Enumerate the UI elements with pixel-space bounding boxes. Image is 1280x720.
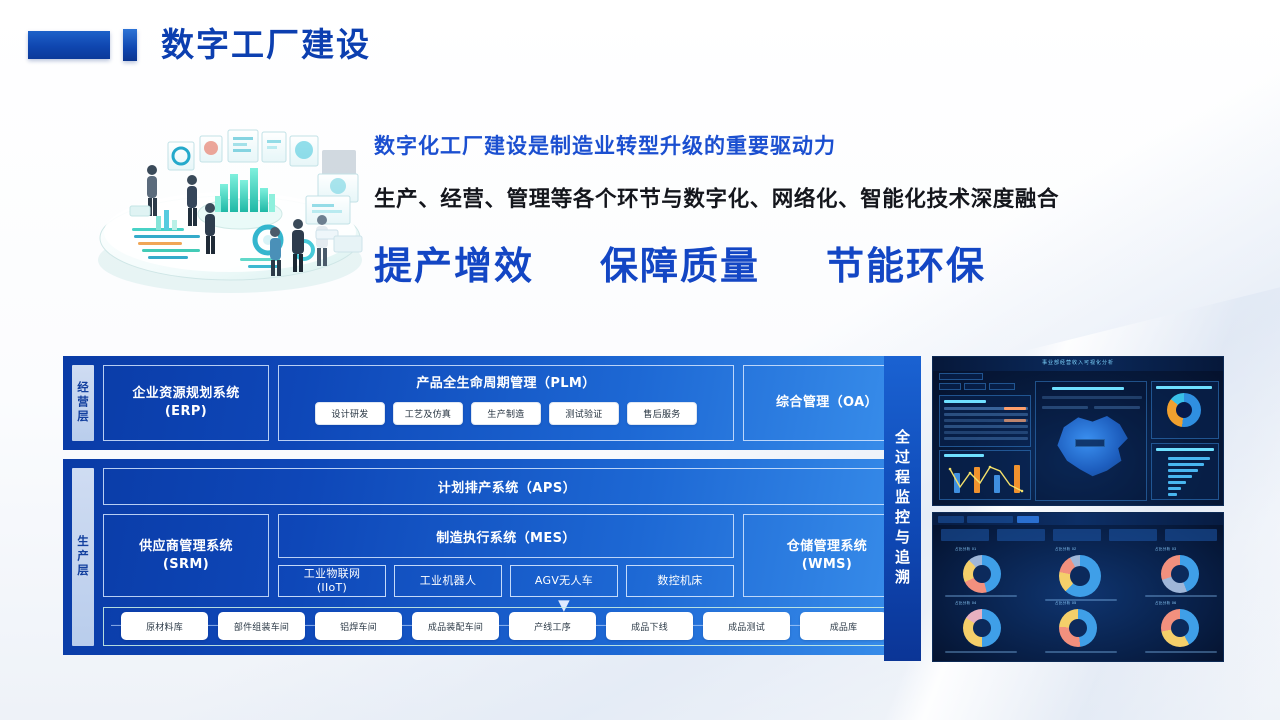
flow-connector-1: — xyxy=(208,621,218,631)
card-srm[interactable]: 供应商管理系统 (SRM) xyxy=(103,514,269,597)
hero-keyword-1: 提产增效 xyxy=(374,235,534,290)
production-flow: — 原材料库 — 部件组装车间 — 铝焊车间 — 成品装配车间 — 产线工序 —… xyxy=(103,607,911,646)
hero-keyword-3: 节能环保 xyxy=(826,235,986,290)
dashboard2-donut-1 xyxy=(963,555,1001,593)
flow-connector-4: — xyxy=(499,621,509,631)
card-erp[interactable]: 企业资源规划系统 (ERP) xyxy=(103,365,269,441)
flow-connector-6: — xyxy=(693,621,703,631)
card-srm-subtitle: (SRM) xyxy=(163,556,209,574)
hero-headline: 数字化工厂建设是制造业转型升级的重要驱动力 xyxy=(374,130,1214,160)
layer-tab-production: 生产层 xyxy=(72,468,94,646)
flow-connector-7: — xyxy=(790,621,800,631)
flow-connector-2: — xyxy=(305,621,315,631)
plm-chip-design[interactable]: 设计研发 xyxy=(315,402,385,425)
card-srm-title: 供应商管理系统 xyxy=(139,538,233,556)
layer-tab-production-label: 生产层 xyxy=(75,535,91,579)
card-mes-title[interactable]: 制造执行系统（MES） xyxy=(278,514,734,558)
flow-node-welding[interactable]: 铝焊车间 xyxy=(315,612,402,640)
card-wms-subtitle: (WMS) xyxy=(802,556,853,574)
mes-chip-iiot[interactable]: 工业物联网(IIoT) xyxy=(278,565,386,597)
production-card-row: 供应商管理系统 (SRM) 制造执行系统（MES） 工业物联网(IIoT) 工业… xyxy=(103,514,911,597)
plm-chip-manufacturing[interactable]: 生产制造 xyxy=(471,402,541,425)
layer-operations: 经营层 企业资源规划系统 (ERP) 产品全生命周期管理（PLM） 设计研发 工… xyxy=(63,356,921,450)
dashboard1-filter-chip-4 xyxy=(989,383,1015,390)
plm-chip-aftersales[interactable]: 售后服务 xyxy=(627,402,697,425)
plm-chip-process-sim[interactable]: 工艺及仿真 xyxy=(393,402,463,425)
page-title: 数字工厂建设 xyxy=(161,28,371,61)
dashboard2-kpi-5 xyxy=(1165,529,1217,541)
layer-production: 生产层 计划排产系统（APS） 供应商管理系统 (SRM) 制造执行系统（MES… xyxy=(63,459,921,655)
page-header: 数字工厂建设 xyxy=(28,28,371,61)
card-plm[interactable]: 产品全生命周期管理（PLM） 设计研发 工艺及仿真 生产制造 测试验证 售后服务 xyxy=(278,365,734,441)
dashboard2-donut-3 xyxy=(1161,555,1199,593)
plm-chip-testing[interactable]: 测试验证 xyxy=(549,402,619,425)
mes-chip-robot[interactable]: 工业机器人 xyxy=(394,565,502,597)
dashboard2-kpi-4 xyxy=(1109,529,1157,541)
dashboard2-date-chip xyxy=(938,516,964,523)
layer-production-body: 计划排产系统（APS） 供应商管理系统 (SRM) 制造执行系统（MES） 工业… xyxy=(103,468,911,646)
dashboard1-horizontal-bars xyxy=(1151,443,1219,500)
hero-keyword-row: 提产增效 保障质量 节能环保 xyxy=(374,235,1214,290)
flow-node-part-assembly[interactable]: 部件组装车间 xyxy=(218,612,305,640)
hero-keyword-2: 保障质量 xyxy=(600,235,760,290)
operations-card-row: 企业资源规划系统 (ERP) 产品全生命周期管理（PLM） 设计研发 工艺及仿真… xyxy=(103,365,911,441)
dashboard2-donut-2 xyxy=(1059,555,1101,597)
header-decor-bar-small xyxy=(123,29,137,61)
dashboard2-kpi-3 xyxy=(1053,529,1101,541)
factory-illustration xyxy=(72,110,388,300)
dashboard1-data-table xyxy=(939,395,1031,447)
card-oa-title: 综合管理（OA） xyxy=(776,394,878,412)
layer-tab-operations-label: 经营层 xyxy=(75,381,91,425)
production-flow-nodes: — 原材料库 — 部件组装车间 — 铝焊车间 — 成品装配车间 — 产线工序 —… xyxy=(111,612,903,640)
dashboard2-donut-5 xyxy=(1059,609,1097,647)
header-decor-bar-large xyxy=(28,31,110,59)
dashboard2-query-button[interactable] xyxy=(1017,516,1039,523)
flow-node-offline[interactable]: 成品下线 xyxy=(606,612,693,640)
dashboard1-line-bar-chart xyxy=(939,450,1031,500)
hero-text-block: 数字化工厂建设是制造业转型升级的重要驱动力 生产、经营、管理等各个环节与数字化、… xyxy=(374,130,1214,290)
dashboard1-filter-chip-1 xyxy=(939,373,983,380)
dashboard2-kpi-1 xyxy=(941,529,989,541)
dashboard1-donut-chart xyxy=(1167,393,1201,427)
card-aps[interactable]: 计划排产系统（APS） xyxy=(103,468,911,505)
mes-chip-agv[interactable]: AGV无人车 ▼ xyxy=(510,565,618,597)
card-erp-subtitle: (ERP) xyxy=(165,403,207,421)
dashboard1-title: 事业部经营收入可视化分析 xyxy=(933,359,1223,366)
mes-chip-cnc[interactable]: 数控机床 xyxy=(626,565,734,597)
flow-node-final-assembly[interactable]: 成品装配车间 xyxy=(412,612,499,640)
card-plm-title: 产品全生命周期管理（PLM） xyxy=(416,375,595,393)
card-erp-title: 企业资源规划系统 xyxy=(132,385,239,403)
hero-section: 数字化工厂建设是制造业转型升级的重要驱动力 生产、经营、管理等各个环节与数字化、… xyxy=(0,100,1280,330)
monitor-bar: 全过程监控与追溯 xyxy=(884,356,921,661)
flow-connector-3: — xyxy=(402,621,412,631)
dashboard2-filter-chip xyxy=(967,516,1013,523)
monitor-bar-label: 全过程监控与追溯 xyxy=(892,429,913,589)
flow-connector-5: — xyxy=(596,621,606,631)
architecture-diagram: 经营层 企业资源规划系统 (ERP) 产品全生命周期管理（PLM） 设计研发 工… xyxy=(63,356,921,661)
flow-connector-0: — xyxy=(111,621,121,631)
hero-subheadline: 生产、经营、管理等各个环节与数字化、网络化、智能化技术深度融合 xyxy=(374,182,1214,213)
dashboard2-donut-6 xyxy=(1161,609,1199,647)
card-wms-title: 仓储管理系统 xyxy=(787,538,867,556)
dashboard1-filter-chip-3 xyxy=(964,383,986,390)
layer-operations-body: 企业资源规划系统 (ERP) 产品全生命周期管理（PLM） 设计研发 工艺及仿真… xyxy=(103,365,911,441)
card-mes: 制造执行系统（MES） 工业物联网(IIoT) 工业机器人 AGV无人车 ▼ 数… xyxy=(278,514,734,597)
dashboard1-map-tooltip xyxy=(1075,439,1105,447)
flow-node-finished-warehouse[interactable]: 成品库 xyxy=(800,612,887,640)
mes-chip-row: 工业物联网(IIoT) 工业机器人 AGV无人车 ▼ 数控机床 xyxy=(278,565,734,597)
dashboard1-filter-chip-2 xyxy=(939,383,961,390)
flow-node-raw-material[interactable]: 原材料库 xyxy=(121,612,208,640)
flow-node-product-test[interactable]: 成品测试 xyxy=(703,612,790,640)
dashboard2-donut-4 xyxy=(963,609,1001,647)
plm-chip-row: 设计研发 工艺及仿真 生产制造 测试验证 售后服务 xyxy=(315,402,697,425)
dashboard-ratio-screenshot[interactable]: 占比分析 01 占比分析 02 占比分析 03 占比分析 04 占比分析 05 … xyxy=(932,512,1224,662)
dashboard-revenue-screenshot[interactable]: 事业部经营收入可视化分析 xyxy=(932,356,1224,506)
flow-node-line-process[interactable]: 产线工序 xyxy=(509,612,596,640)
dashboard2-kpi-2 xyxy=(997,529,1045,541)
layer-tab-operations: 经营层 xyxy=(72,365,94,441)
